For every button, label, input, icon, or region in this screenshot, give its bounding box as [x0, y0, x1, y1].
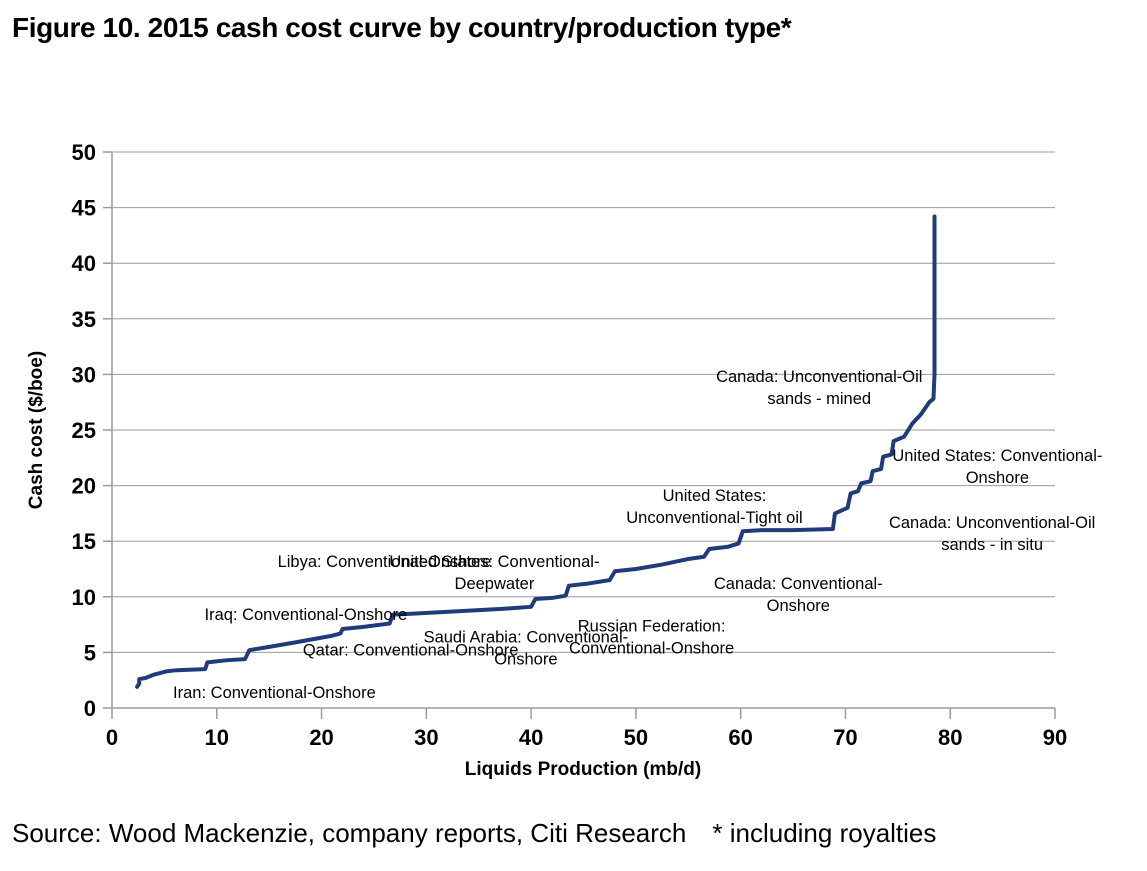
annotation-label-united-states-deepwater: Deepwater — [455, 575, 535, 593]
x-tick-label: 60 — [728, 725, 752, 750]
y-tick-label: 10 — [72, 585, 96, 610]
y-tick-group: 05101520253035404550 — [72, 140, 112, 721]
x-axis-title: Liquids Production (mb/d) — [465, 759, 701, 780]
x-tick-label: 30 — [414, 725, 438, 750]
x-tick-label: 90 — [1043, 725, 1067, 750]
cash-cost-curve-chart: 05101520253035404550 0102030405060708090… — [0, 110, 1147, 800]
source-text: Source: Wood Mackenzie, company reports,… — [12, 818, 686, 848]
annotation-label-canada-oil-sands-mined: Canada: Unconventional-Oil — [716, 368, 922, 386]
x-tick-label: 70 — [833, 725, 857, 750]
footnote-text: * including royalties — [712, 818, 936, 848]
x-tick-label: 0 — [106, 725, 118, 750]
annotation-label-russian-federation: Russian Federation: — [578, 617, 726, 635]
x-tick-label: 80 — [938, 725, 962, 750]
annotation-label-canada-oil-sands-mined: sands - mined — [767, 390, 871, 408]
y-tick-label: 30 — [72, 362, 96, 387]
annotation-label-united-states-conventional-onshore: United States: Conventional- — [892, 447, 1102, 465]
annotation-label-iraq: Iraq: Conventional-Onshore — [204, 606, 407, 624]
annotation-label-russian-federation: Conventional-Onshore — [569, 639, 734, 657]
y-tick-label: 35 — [72, 307, 96, 332]
annotation-label-canada-conventional: Onshore — [767, 597, 830, 615]
y-tick-label: 20 — [72, 474, 96, 499]
gridlines-group — [112, 152, 1055, 652]
y-tick-label: 50 — [72, 140, 96, 165]
y-tick-label: 40 — [72, 251, 96, 276]
annotation-label-united-states-deepwater: United States: Conventional- — [389, 553, 599, 571]
y-tick-label: 0 — [84, 696, 96, 721]
annotation-label-united-states-conventional-onshore: Onshore — [966, 469, 1029, 487]
y-tick-label: 45 — [72, 196, 96, 221]
chart-canvas: 05101520253035404550 0102030405060708090… — [0, 110, 1147, 800]
x-tick-label: 50 — [624, 725, 648, 750]
x-tick-label: 10 — [205, 725, 229, 750]
annotation-label-iran: Iran: Conventional-Onshore — [173, 684, 376, 702]
y-tick-label: 5 — [84, 640, 96, 665]
x-tick-group: 0102030405060708090 — [106, 708, 1067, 750]
source-footer: Source: Wood Mackenzie, company reports,… — [12, 818, 936, 849]
annotation-label-canada-oil-sands-in-situ: sands - in situ — [941, 536, 1043, 554]
page-title: Figure 10. 2015 cash cost curve by count… — [12, 12, 791, 44]
y-axis-title: Cash cost ($/boe) — [26, 351, 47, 509]
x-tick-label: 20 — [309, 725, 333, 750]
annotation-label-united-states-tight-oil: Unconventional-Tight oil — [626, 509, 802, 527]
annotation-label-united-states-tight-oil: United States: — [663, 487, 767, 505]
annotation-label-canada-oil-sands-in-situ: Canada: Unconventional-Oil — [889, 514, 1095, 532]
y-tick-label: 25 — [72, 418, 96, 443]
y-tick-label: 15 — [72, 529, 96, 554]
x-tick-label: 40 — [519, 725, 543, 750]
annotation-label-canada-conventional: Canada: Conventional- — [714, 575, 883, 593]
annotation-label-saudi-arabia: Onshore — [494, 650, 557, 668]
